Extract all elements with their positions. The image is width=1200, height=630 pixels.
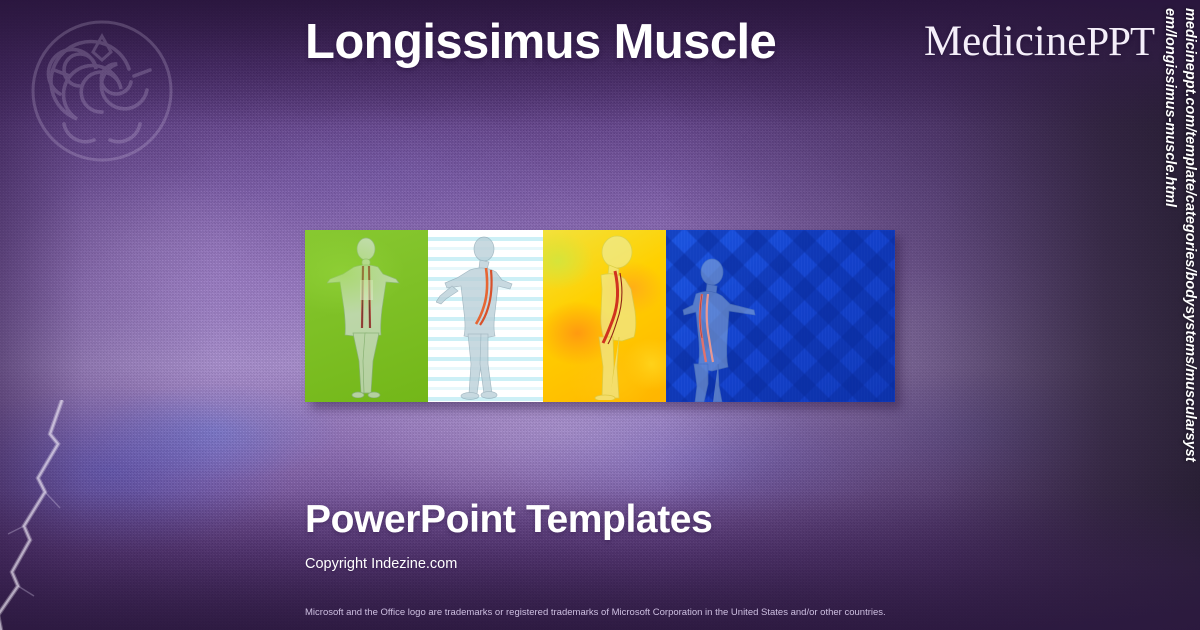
page-subtitle: PowerPoint Templates	[305, 498, 712, 542]
panel-lattice-pattern	[666, 230, 895, 402]
vertical-url-line-2: em/longissimus-muscle.html	[1160, 8, 1180, 630]
brand-logo-medicine: Medicine	[924, 18, 1086, 65]
thumbnail-panel-posterior-figure-blue[interactable]	[666, 230, 895, 402]
anatomy-figure-anterior-icon	[327, 236, 405, 398]
panel-thermal-blobs	[543, 230, 666, 402]
thumbnail-panel-lateral-profile-yellow[interactable]	[543, 230, 666, 402]
vertical-url-line-1: medicineppt.com/template/categories/body…	[1179, 8, 1199, 630]
brand-logo-ppt: PPT	[1086, 18, 1154, 64]
celtic-spiral-ornament-icon	[28, 16, 176, 166]
slide-canvas: Longissimus Muscle MedicinePPT medicinep…	[0, 0, 1200, 630]
brand-logo: MedicinePPT	[924, 20, 1154, 63]
thumbnail-panel-oblique-figure-striped[interactable]	[428, 230, 543, 402]
vertical-url: medicineppt.com/template/categories/body…	[1155, 0, 1200, 630]
copyright-notice: Copyright Indezine.com	[305, 556, 457, 572]
page-title: Longissimus Muscle	[305, 17, 776, 68]
template-thumbnail-strip[interactable]	[305, 230, 895, 402]
trademark-notice: Microsoft and the Office logo are tradem…	[305, 607, 886, 618]
panel-stripe-pattern	[428, 230, 543, 402]
thumbnail-panel-anterior-full-body-green[interactable]	[305, 230, 428, 402]
